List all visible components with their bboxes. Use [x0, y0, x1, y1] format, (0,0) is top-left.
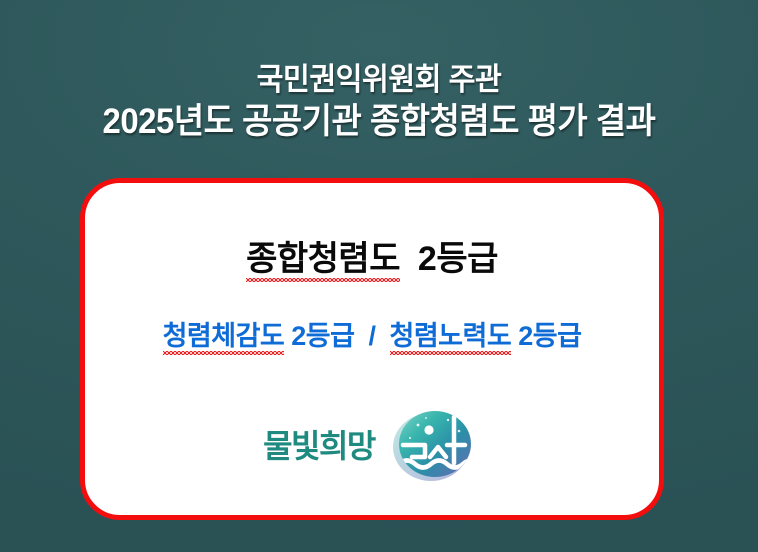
effort-integrity-grade: 2등급 — [518, 321, 581, 351]
slide-canvas: 국민권익위원회 주관 2025년도 공공기관 종합청렴도 평가 결과 종합청렴도… — [0, 0, 758, 552]
perceived-integrity-grade: 2등급 — [291, 321, 354, 351]
page-title-line-2: 2025년도 공공기관 종합청렴도 평가 결과 — [23, 101, 736, 142]
result-card: 종합청렴도 2등급 청렴체감도 2등급 / 청렴노력도 2등급 물빛희망 — [80, 178, 664, 520]
overall-integrity-label: 종합청렴도 — [246, 231, 400, 280]
effort-integrity-result: 청렴노력도 2등급 — [390, 314, 582, 353]
effort-integrity-label: 청렴노력도 — [390, 314, 512, 353]
overall-integrity-grade: 2등급 — [418, 240, 498, 278]
result-separator: / — [354, 321, 389, 352]
gunsan-city-emblem-icon — [385, 405, 481, 487]
sub-integrity-results: 청렴체감도 2등급 / 청렴노력도 2등급 — [163, 314, 582, 353]
page-title-line-1: 국민권익위원회 주관 — [23, 62, 736, 99]
perceived-integrity-result: 청렴체감도 2등급 — [163, 314, 355, 353]
overall-integrity-spacer — [400, 240, 418, 278]
overall-integrity-result: 종합청렴도 2등급 — [246, 231, 498, 280]
page-title: 국민권익위원회 주관 2025년도 공공기관 종합청렴도 평가 결과 — [0, 62, 758, 142]
city-logo: 물빛희망 — [85, 405, 659, 487]
logo-wordmark: 물빛희망 — [263, 430, 375, 462]
perceived-integrity-label: 청렴체감도 — [163, 314, 285, 353]
